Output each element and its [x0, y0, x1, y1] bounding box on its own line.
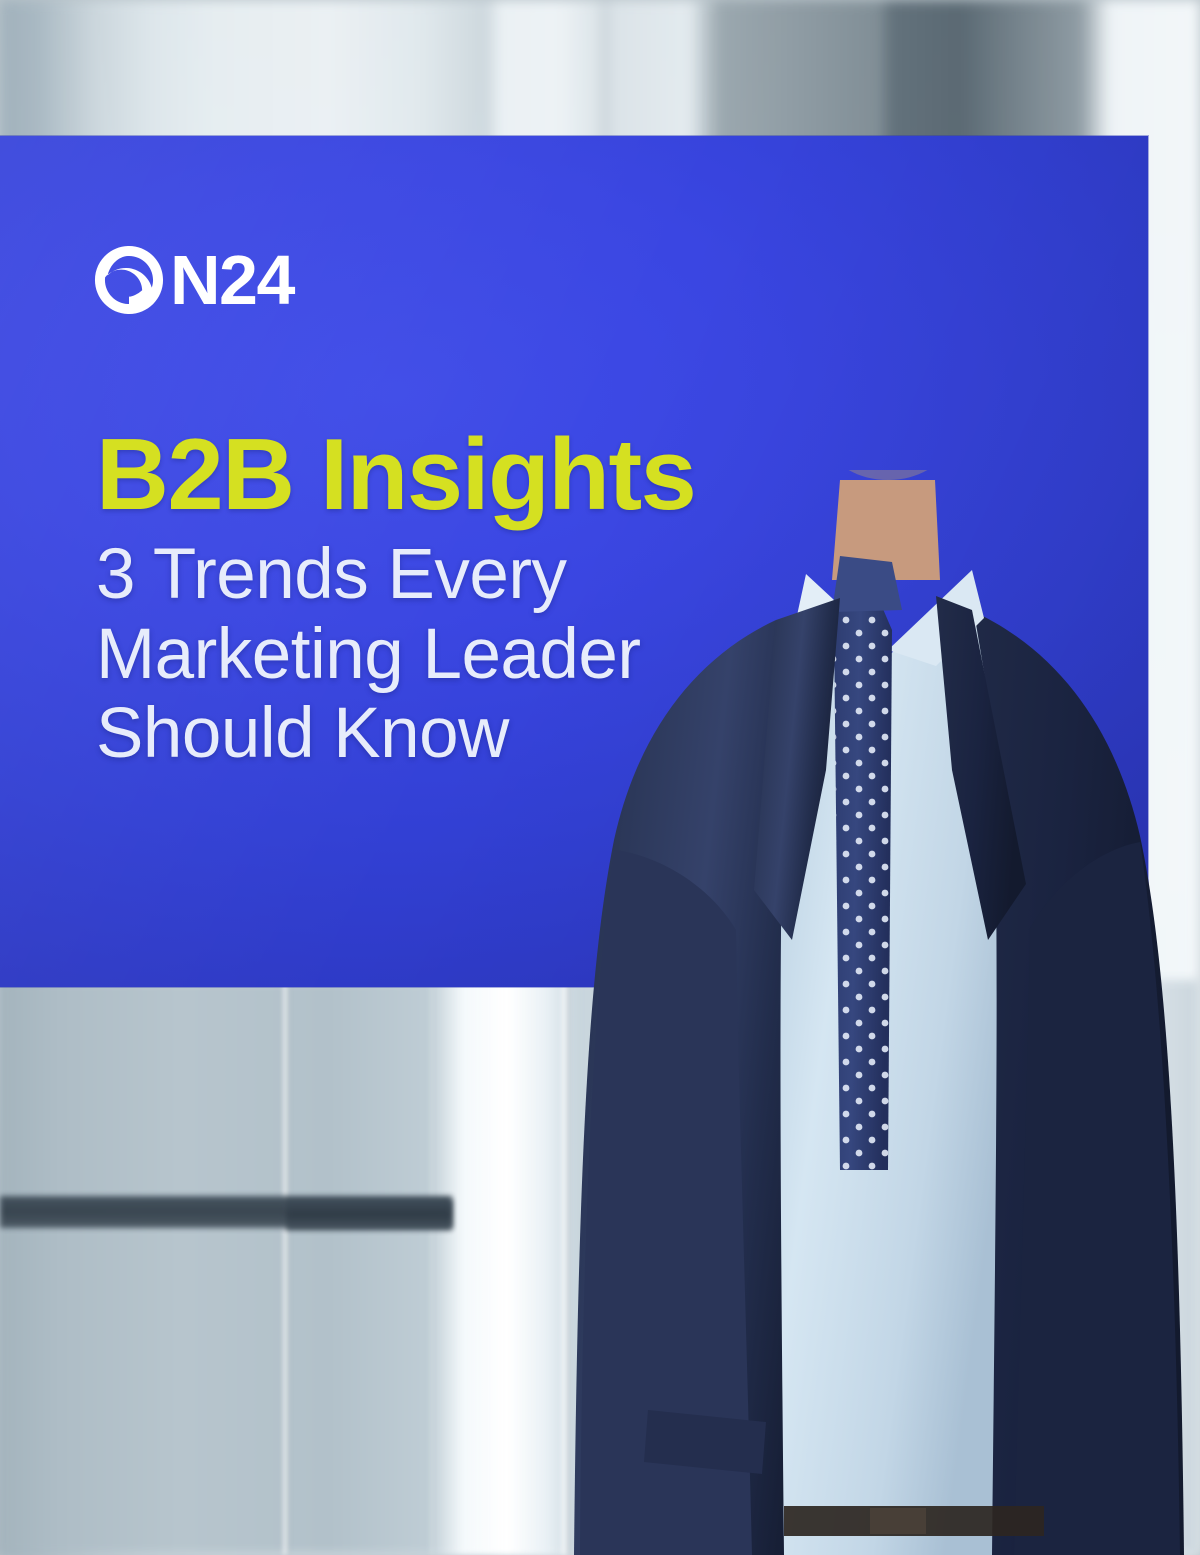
on24-wordmark: N24	[170, 243, 294, 317]
beard	[798, 470, 978, 480]
head	[775, 470, 1001, 480]
glass-mullion-3	[430, 980, 434, 1555]
glass-mullion-1	[282, 980, 289, 1555]
belt-buckle	[870, 1508, 926, 1534]
ebook-cover: N24 B2B Insights 3 Trends Every Marketin…	[0, 0, 1200, 1555]
on24-circle-logo-icon	[92, 243, 166, 317]
tie-knot	[832, 556, 902, 612]
on24-logo: N24	[92, 243, 294, 317]
glass-manifestation-band-2	[286, 1200, 452, 1230]
businessman-portrait	[540, 470, 1200, 1555]
